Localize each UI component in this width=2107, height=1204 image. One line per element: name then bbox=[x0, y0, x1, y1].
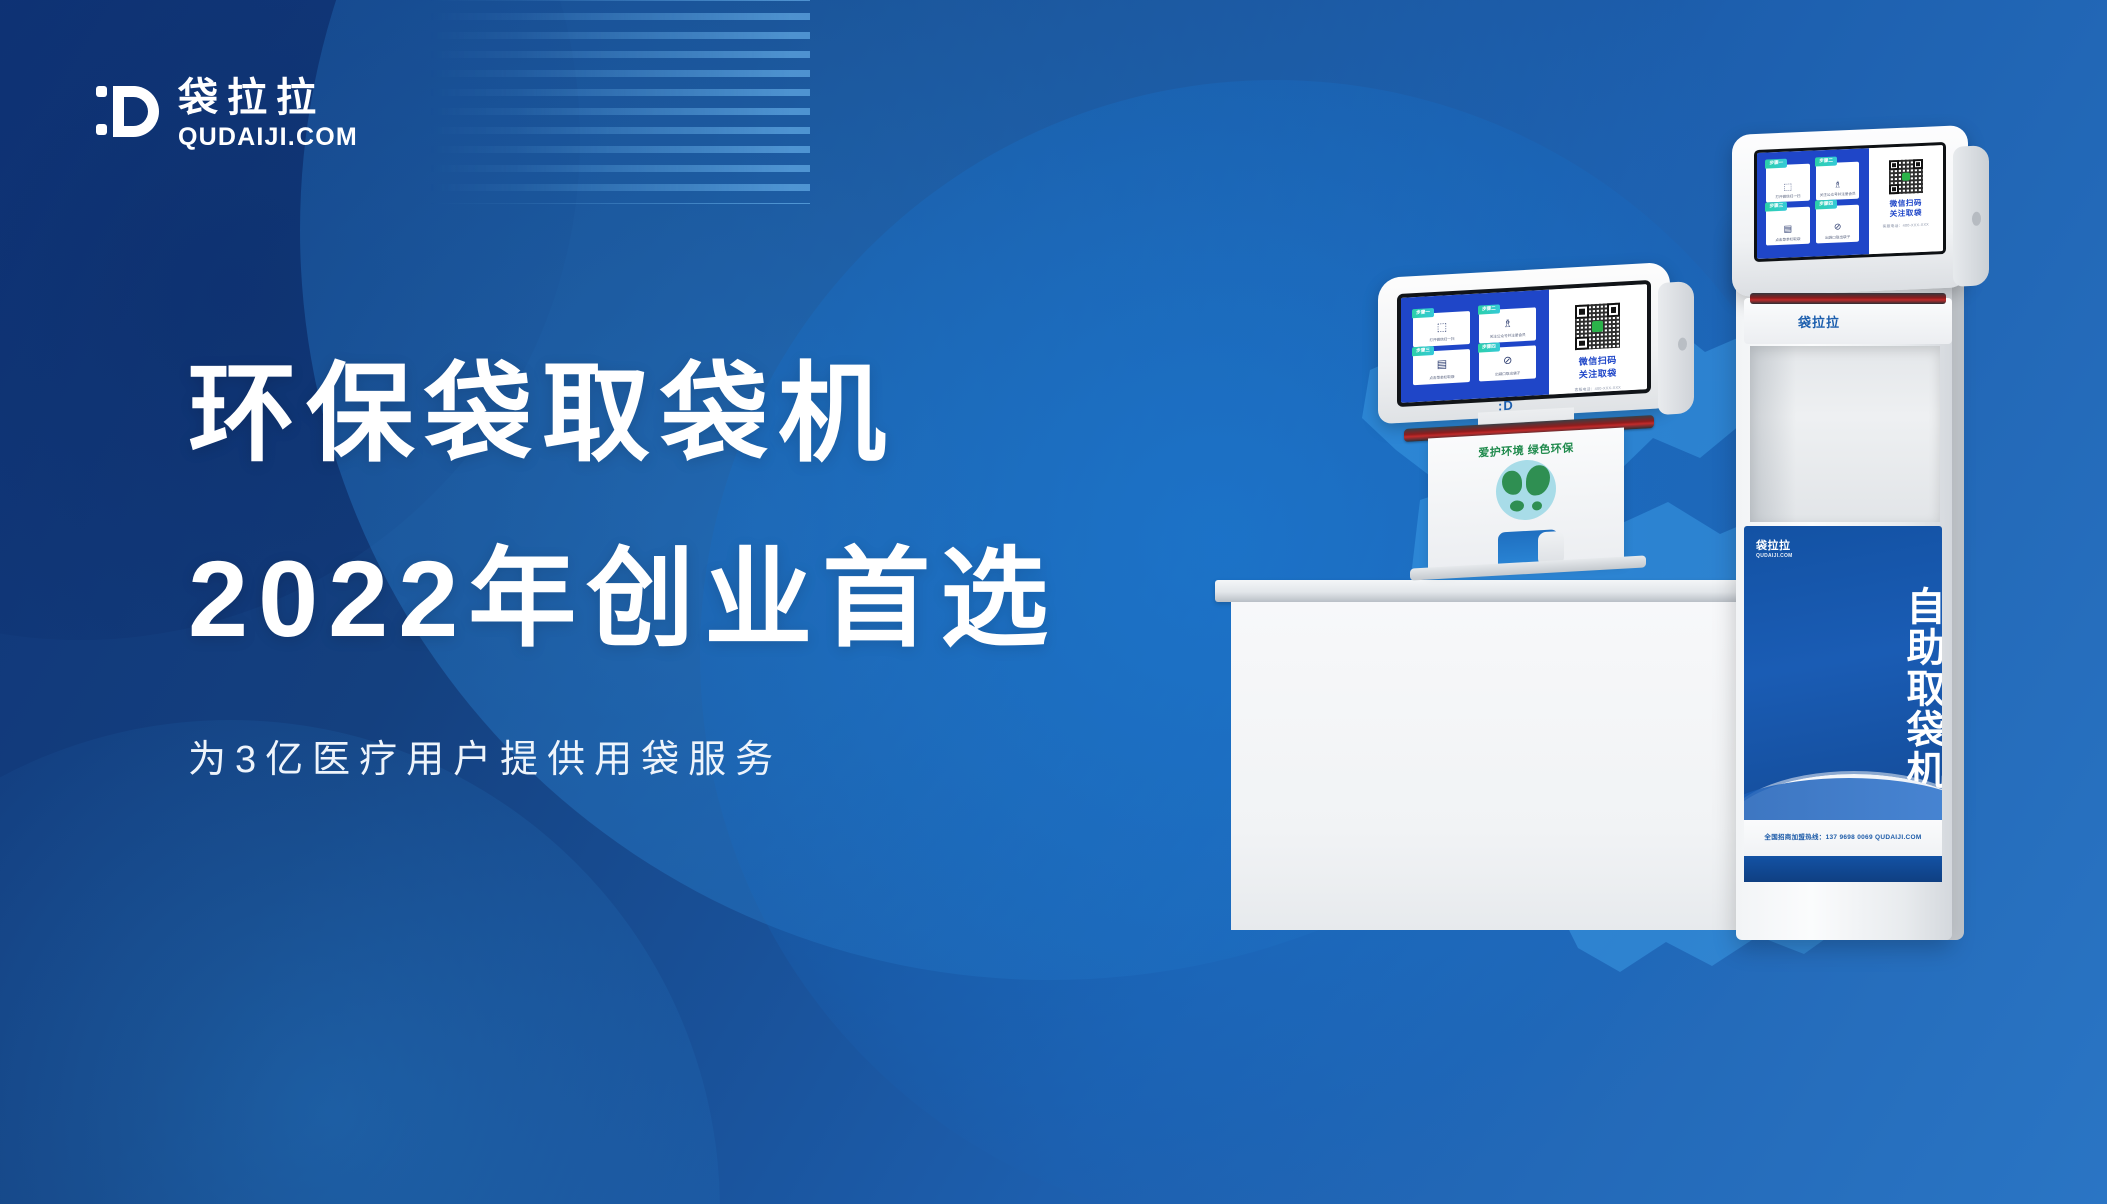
qr-caption-line-2: 关注取袋 bbox=[1890, 208, 1922, 218]
qr-caption-line-2: 关注取袋 bbox=[1579, 367, 1617, 379]
kiosk-blue-signage-panel: 袋拉拉 QUDAIJI.COM 自助取袋机 bbox=[1744, 526, 1942, 826]
kiosk-qr-panel: 微信扫码 关注取袋 客服电话：400-XXX-XXX bbox=[1549, 284, 1647, 395]
kiosk-steps-panel: 步骤一 ⬚ 打开微信扫一扫 步骤二 ♗ 关注公众号并注册会员 步骤三 bbox=[1401, 290, 1549, 403]
kiosk-pickup-cavity bbox=[1750, 346, 1940, 522]
step-tag: 步骤四 bbox=[1815, 199, 1837, 209]
product-scene: 步骤一 ⬚ 打开微信扫一扫 步骤二 ♗ 关注公众号并注册会员 步骤三 bbox=[1180, 150, 2100, 980]
counter-desk bbox=[1215, 580, 1775, 930]
step-caption: 出袋口取出袋子 bbox=[1823, 235, 1852, 241]
hero-copy: 环保袋取袋机 2022年创业首选 为3亿医疗用户提供用袋服务 bbox=[188, 350, 1058, 779]
step-tag: 步骤三 bbox=[1412, 346, 1434, 356]
step-card[interactable]: 步骤二 ♗ 关注公众号并注册会员 bbox=[1816, 162, 1859, 201]
brand-logo: 袋拉拉 QUDAIJI.COM bbox=[96, 78, 358, 150]
panel-logo-en: QUDAIJI.COM bbox=[1756, 553, 1793, 559]
step-glyph-icon: ▤ bbox=[1437, 360, 1447, 372]
step-card[interactable]: 步骤三 ▤ 点击菜单栏取袋 bbox=[1413, 349, 1470, 385]
countertop-display[interactable]: 步骤一 ⬚ 打开微信扫一扫 步骤二 ♗ 关注公众号并注册会员 步骤三 bbox=[1397, 280, 1651, 407]
kiosk-head-port-icon bbox=[1972, 212, 1981, 226]
colon-d-mark-icon bbox=[96, 80, 162, 142]
wechat-qr-code-icon[interactable] bbox=[1889, 159, 1923, 195]
step-glyph-icon: ⊘ bbox=[1834, 223, 1842, 232]
kiosk-brandbar-label: 袋拉拉 bbox=[1798, 312, 1840, 331]
wechat-qr-code-icon[interactable] bbox=[1575, 303, 1620, 351]
step-card[interactable]: 步骤四 ⊘ 出袋口取出袋子 bbox=[1479, 345, 1536, 381]
bg-stripes-decoration bbox=[430, 0, 810, 204]
step-tag: 步骤二 bbox=[1478, 304, 1500, 314]
step-tag: 步骤三 bbox=[1765, 201, 1787, 211]
kiosk-steps-grid: 步骤一 ⬚ 打开微信扫一扫 步骤二 ♗ 关注公众号并注册会员 bbox=[1766, 162, 1859, 246]
step-caption: 打开微信扫一扫 bbox=[1427, 337, 1457, 343]
qr-caption-line-1: 微信扫码 bbox=[1579, 355, 1617, 367]
step-caption: 出袋口取出袋子 bbox=[1493, 371, 1523, 377]
earth-globe-icon bbox=[1496, 458, 1556, 521]
step-caption: 打开微信扫一扫 bbox=[1774, 194, 1803, 200]
kiosk-vertical-title: 自助取袋机 bbox=[1744, 570, 1942, 806]
step-glyph-icon: ♗ bbox=[1834, 180, 1842, 189]
step-glyph-icon: ⬚ bbox=[1437, 322, 1447, 334]
kiosk-screen-ui[interactable]: 步骤一 ⬚ 打开微信扫一扫 步骤二 ♗ 关注公众号并注册会员 步骤三 bbox=[1401, 284, 1647, 403]
countertop-side-port-icon bbox=[1678, 337, 1687, 351]
panel-wave-blue bbox=[1744, 778, 1942, 822]
countertop-front-panel: 爱护环境 绿色环保 bbox=[1428, 428, 1624, 573]
step-caption: 关注公众号并注册会员 bbox=[1818, 192, 1857, 198]
qr-caption-line-1: 微信扫码 bbox=[1890, 198, 1922, 208]
step-tag: 步骤二 bbox=[1815, 157, 1837, 167]
step-card[interactable]: 步骤四 ⊘ 出袋口取出袋子 bbox=[1816, 204, 1859, 243]
kiosk-brand-bar: 袋拉拉 bbox=[1744, 298, 1952, 344]
step-tag: 步骤四 bbox=[1478, 342, 1500, 352]
step-glyph-icon: ♗ bbox=[1503, 318, 1513, 330]
kiosk-qr-panel: 微信扫码 关注取袋 客服电话：400-XXX-XXX bbox=[1869, 145, 1943, 254]
kiosk-head-housing: 步骤一 ⬚ 打开微信扫一扫 步骤二 ♗ 关注公众号并注册会员 bbox=[1732, 125, 1968, 297]
step-card[interactable]: 步骤三 ▤ 点击菜单栏取袋 bbox=[1766, 206, 1809, 245]
kiosk-display[interactable]: 步骤一 ⬚ 打开微信扫一扫 步骤二 ♗ 关注公众号并注册会员 bbox=[1754, 142, 1946, 262]
kiosk-head-side-panel bbox=[1953, 145, 1989, 287]
step-tag: 步骤一 bbox=[1412, 308, 1434, 318]
kiosk-screen-ui[interactable]: 步骤一 ⬚ 打开微信扫一扫 步骤二 ♗ 关注公众号并注册会员 bbox=[1757, 145, 1943, 259]
headline-line-1: 环保袋取袋机 bbox=[188, 350, 1058, 477]
headline-line-2: 2022年创业首选 bbox=[188, 535, 1058, 662]
panel-logo-cn: 袋拉拉 bbox=[1756, 540, 1791, 552]
hero-subtitle: 为3亿医疗用户提供用袋服务 bbox=[188, 741, 1058, 779]
countertop-bag-dispenser: 步骤一 ⬚ 打开微信扫一扫 步骤二 ♗ 关注公众号并注册会员 步骤三 bbox=[1370, 270, 1700, 600]
promotional-banner: 袋拉拉 QUDAIJI.COM 环保袋取袋机 2022年创业首选 为3亿医疗用户… bbox=[0, 0, 2107, 1204]
kiosk-base-blue-strip bbox=[1744, 856, 1942, 882]
brand-name-cn: 袋拉拉 bbox=[178, 78, 358, 118]
countertop-side-panel bbox=[1658, 281, 1694, 415]
step-caption: 点击菜单栏取袋 bbox=[1774, 237, 1803, 243]
step-caption: 关注公众号并注册会员 bbox=[1487, 333, 1528, 340]
panel-logo: 袋拉拉 QUDAIJI.COM bbox=[1756, 537, 1793, 559]
step-caption: 点击菜单栏取袋 bbox=[1427, 375, 1457, 381]
kiosk-hotline: 客服电话：400-XXX-XXX bbox=[1883, 223, 1929, 230]
step-glyph-icon: ▤ bbox=[1784, 225, 1793, 234]
step-tag: 步骤一 bbox=[1765, 159, 1787, 169]
counter-desk-face bbox=[1231, 602, 1759, 930]
kiosk-steps-panel: 步骤一 ⬚ 打开微信扫一扫 步骤二 ♗ 关注公众号并注册会员 bbox=[1757, 148, 1869, 259]
kiosk-bag-slot bbox=[1750, 293, 1946, 304]
step-card[interactable]: 步骤一 ⬚ 打开微信扫一扫 bbox=[1413, 311, 1470, 347]
step-card[interactable]: 步骤一 ⬚ 打开微信扫一扫 bbox=[1766, 164, 1809, 203]
kiosk-hotline: 客服电话：400-XXX-XXX bbox=[1575, 385, 1621, 393]
kiosk-steps-grid: 步骤一 ⬚ 打开微信扫一扫 步骤二 ♗ 关注公众号并注册会员 步骤三 bbox=[1413, 308, 1536, 385]
kiosk-footer-hotline: 全国招商加盟热线：137 9698 0069 QUDAIJI.COM bbox=[1744, 831, 1942, 841]
step-glyph-icon: ⬚ bbox=[1784, 182, 1793, 191]
brand-name-en: QUDAIJI.COM bbox=[178, 125, 358, 150]
floor-standing-bag-kiosk: 步骤一 ⬚ 打开微信扫一扫 步骤二 ♗ 关注公众号并注册会员 bbox=[1700, 130, 2000, 950]
step-glyph-icon: ⊘ bbox=[1503, 356, 1512, 368]
step-card[interactable]: 步骤二 ♗ 关注公众号并注册会员 bbox=[1479, 308, 1536, 344]
